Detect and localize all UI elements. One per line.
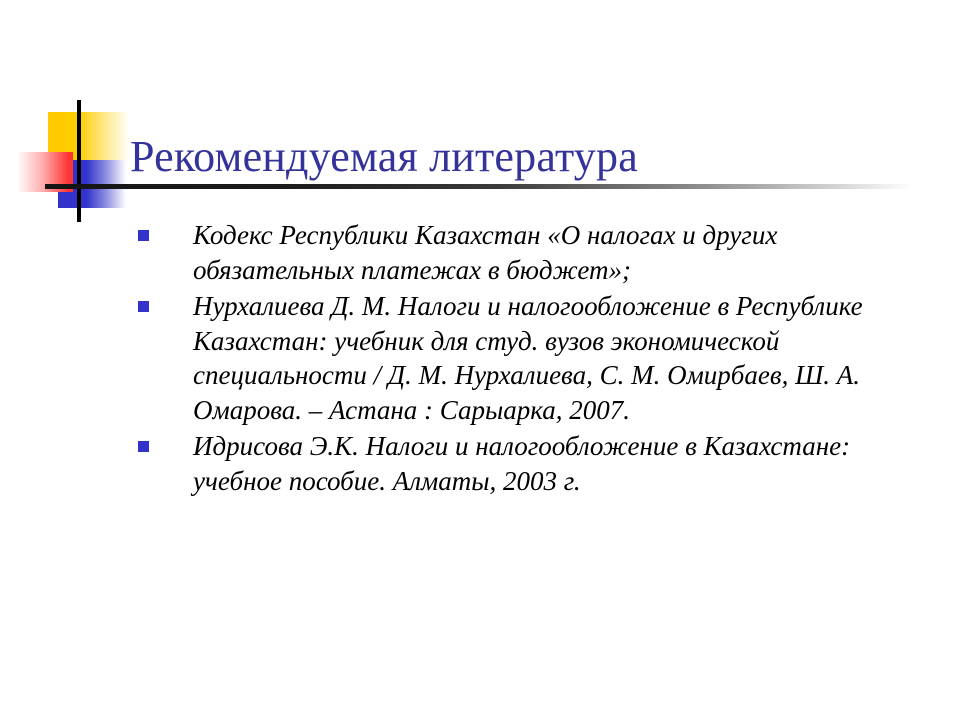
square-bullet-icon [138,301,149,312]
slide-canvas: Рекомендуемая литература Кодекс Республи… [0,0,960,720]
list-item: Нурхалиева Д. М. Налоги и налогообложени… [130,289,930,427]
list-item: Идрисова Э.К. Налоги и налогообложение в… [130,429,930,498]
slide-decoration [0,0,300,230]
list-item-text: Идрисова Э.К. Налоги и налогообложение в… [193,429,883,498]
decoration-yellow-square [48,112,130,164]
square-bullet-icon [138,230,149,241]
list-item-text: Кодекс Республики Казахстан «О налогах и… [193,218,911,287]
title-underline-rule [45,184,913,189]
decoration-vertical-rule [77,100,81,222]
list-item: Кодекс Республики Казахстан «О налогах и… [130,218,930,287]
bullet-list: Кодекс Республики Казахстан «О налогах и… [130,218,930,500]
slide-title: Рекомендуемая литература [130,129,930,185]
list-item-text: Нурхалиева Д. М. Налоги и налогообложени… [193,289,911,427]
square-bullet-icon [138,441,149,452]
